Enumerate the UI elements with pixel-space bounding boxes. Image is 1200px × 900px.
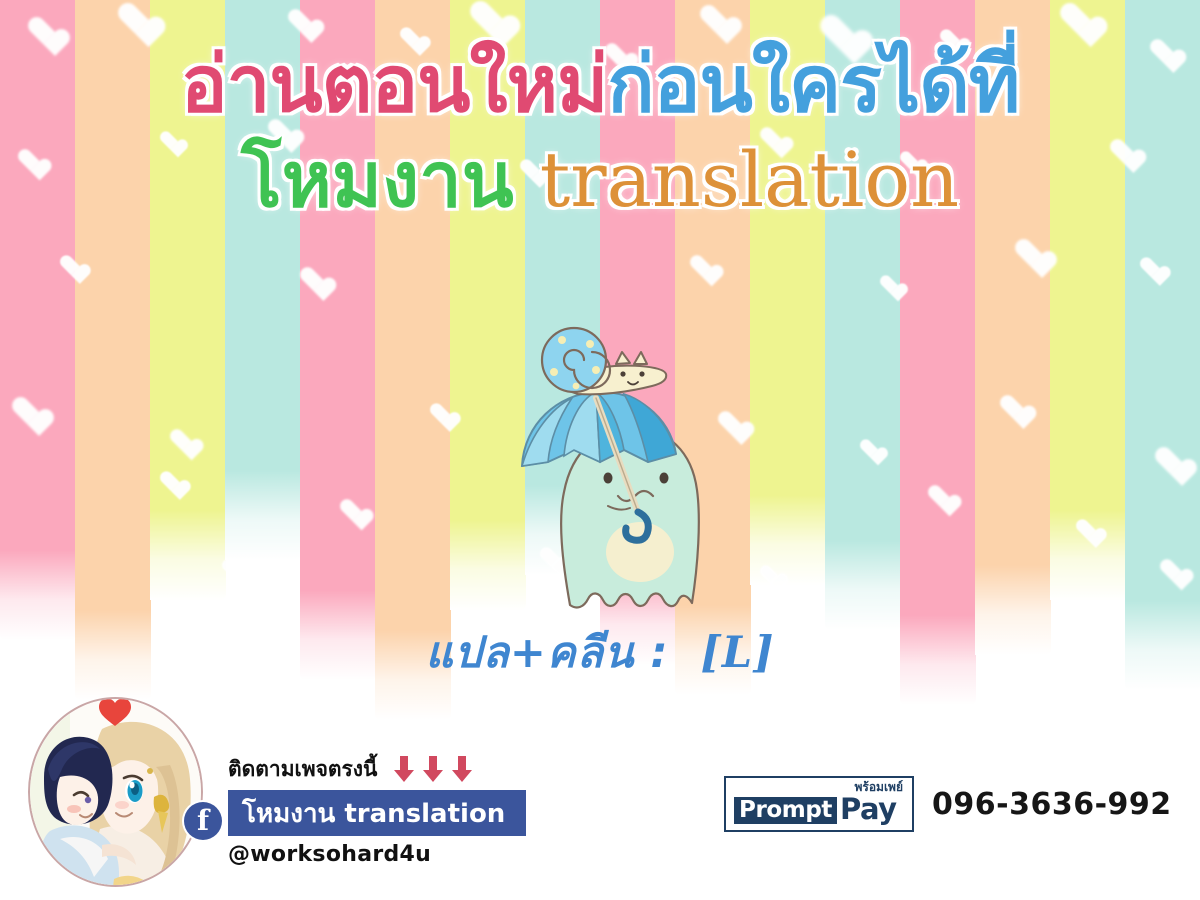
heart-icon [940, 30, 962, 52]
down-arrow-icon [420, 755, 446, 783]
background-stripe [0, 0, 76, 640]
promptpay-pay-text: Pay [840, 795, 897, 824]
heart-icon [222, 560, 242, 580]
background-stripe [225, 0, 301, 560]
promptpay-prompt-text: Prompt [734, 797, 837, 824]
promptpay-wordmark: Prompt Pay [734, 795, 897, 824]
heart-icon [690, 256, 714, 280]
down-arrow-icon [449, 755, 475, 783]
background-stripe [375, 0, 451, 720]
follow-prompt-row: ติดตามเพจตรงนี้ [228, 752, 748, 786]
avatar [28, 697, 203, 887]
heart-icon [18, 150, 42, 174]
heart-icon [928, 486, 952, 510]
background-stripe [75, 0, 151, 700]
avatar-heart-overlay [28, 697, 203, 887]
heart-icon [520, 160, 542, 182]
heart-icon [820, 16, 858, 54]
background-stripe [900, 0, 976, 705]
heart-icon [118, 4, 152, 38]
down-arrow-icon [391, 755, 417, 783]
follow-section: ติดตามเพจตรงนี้ f โหมงาน translation @wo… [228, 752, 748, 867]
background-stripe [825, 0, 901, 630]
heart-icon [900, 152, 920, 172]
background-stripe [150, 0, 226, 600]
background-stripe [1050, 0, 1126, 600]
heart-icon [268, 120, 294, 146]
promptpay-section: พร้อมเพย์ Prompt Pay 096-3636-992 [724, 776, 1172, 832]
background-stripe [300, 0, 376, 680]
credit-value: [L] [701, 628, 775, 678]
heart-icon [1000, 396, 1026, 422]
background-stripe [975, 0, 1051, 655]
heart-icon [605, 44, 629, 68]
heart-icon [340, 500, 364, 524]
heart-icon [1060, 4, 1094, 38]
heart-icon [860, 440, 880, 460]
heart-icon [12, 398, 42, 428]
heart-icon [170, 430, 194, 454]
heart-icon [1150, 40, 1176, 66]
facebook-icon[interactable]: f [184, 802, 222, 840]
heart-icon [880, 276, 900, 296]
credit-label: แปล+คลีน [426, 628, 635, 678]
heart-icon [1015, 240, 1045, 270]
heart-icon [1140, 258, 1162, 280]
follow-label: ติดตามเพจตรงนี้ [228, 753, 377, 786]
credit-separator: : [650, 628, 668, 678]
heart-icon [160, 132, 180, 152]
heart-icon [430, 404, 452, 426]
heart-icon [300, 268, 326, 294]
heart-icon [400, 28, 422, 50]
heart-icon [760, 128, 784, 152]
heart-icon [1160, 560, 1184, 584]
translator-credit: แปล+คลีน : [L] [0, 618, 1200, 686]
heart-icon [28, 18, 58, 48]
promptpay-logo: พร้อมเพย์ Prompt Pay [724, 776, 914, 832]
heart-icon [1155, 448, 1185, 478]
facebook-page-banner[interactable]: f โหมงาน translation [228, 790, 526, 836]
heart-icon [700, 6, 730, 36]
heart-icon [470, 2, 506, 38]
heart-icon [1076, 520, 1098, 542]
ghost-umbrella-snail-mascot-illustration [492, 320, 742, 610]
credit-page: อ่านตอนใหม่ก่อนใครได้ที่ โหมงานtranslati… [0, 0, 1200, 900]
background-stripe [1125, 0, 1200, 690]
promptpay-phone-number: 096-3636-992 [932, 787, 1172, 822]
heart-icon [60, 256, 82, 278]
background-stripe [750, 0, 826, 585]
heart-icon [760, 566, 780, 586]
down-arrow-icons [391, 755, 475, 783]
heart-icon [1110, 140, 1136, 166]
facebook-page-name: โหมงาน translation [242, 793, 505, 834]
heart-icon [160, 472, 182, 494]
heart-icon [288, 10, 314, 36]
facebook-handle[interactable]: @worksohard4u [228, 842, 748, 867]
